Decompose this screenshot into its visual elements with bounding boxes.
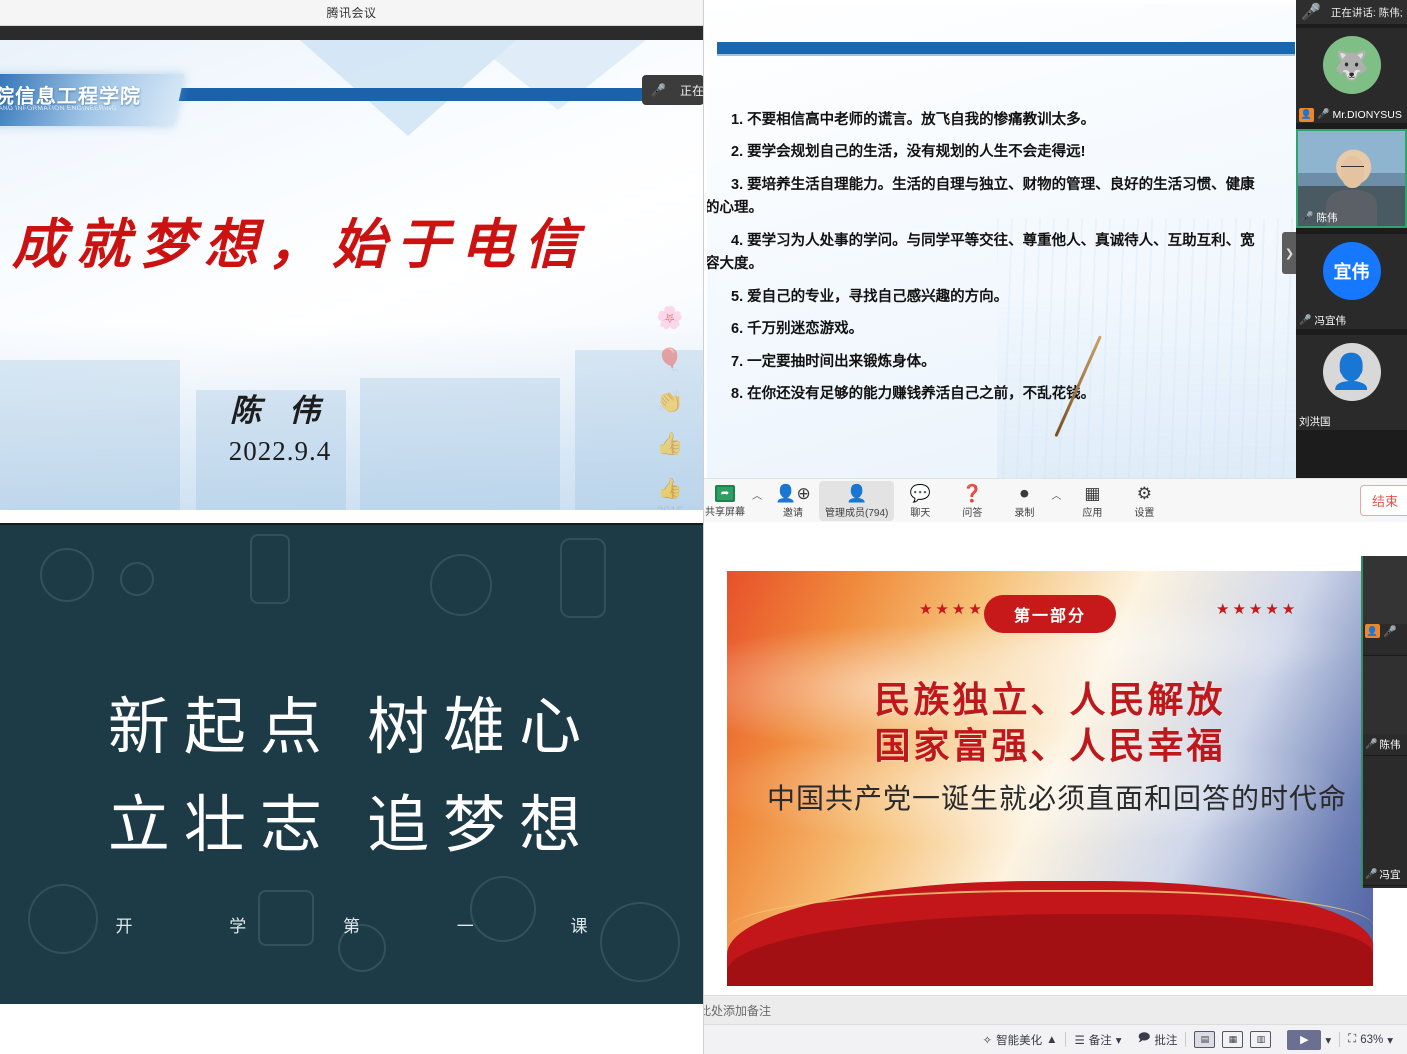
quadrant-divider-horizontal [0,523,703,525]
tencent-meeting-window-bottom-left: 新起点 树雄心 立壮志 追梦想 开 学 第 一 课 ➦ 共享屏幕 ︿ 👤⊕ 邀请… [0,524,703,1054]
view-slide-sorter-icon[interactable]: ▦ [1222,1031,1243,1048]
campus-watermark-building [0,360,180,510]
chevron-down-icon[interactable]: ▾ [1116,1033,1122,1047]
record-label: 录制 [1014,504,1034,519]
record-button[interactable]: ⏺ 录制 [998,481,1050,521]
settings-button[interactable]: ⚙ 设置 [1118,481,1170,521]
shared-slide-title: 院信息工程学院 AL AND INFORMATION ENGINEERING 成… [0,40,703,510]
participant-tile-active-speaker[interactable]: 🎤 陈伟 [1296,129,1407,228]
pip-participant-name: 陈伟 [1379,737,1400,752]
invite-button[interactable]: 👤⊕ 邀请 [767,481,819,521]
quadrant-divider-vertical [703,0,704,1054]
slide-canvas: ★★★★★ 第一部分 ★★★★★ 民族独立、人民解放 国家富强、人民幸福 中国共… [703,533,1407,995]
apps-button[interactable]: ▦ 应用 [1066,481,1118,521]
doodle [120,562,154,596]
presentation-editor-window: ★★★★★ 第一部分 ★★★★★ 民族独立、人民解放 国家富强、人民幸福 中国共… [703,533,1407,1054]
fit-to-window-icon[interactable]: ⛶ [1348,1033,1356,1046]
share-screen-button[interactable]: ➦ 共享屏幕 [703,482,751,520]
notes-button[interactable]: ☰ 备注 ▾ [1066,1032,1129,1048]
video-glasses [1341,166,1365,172]
slide-date: 2022.9.4 [0,436,560,467]
doodle [560,538,606,618]
doodle [250,534,290,604]
end-meeting-button[interactable]: 结束 [1360,485,1407,516]
editor-status-bar: ✧ 智能美化 ▲ ☰ 备注 ▾ 🗩 批注 ▤ ▦ ▥ ▶ ▾ [703,1024,1407,1054]
mic-icon: 🎤 [651,83,666,97]
zoom-group: ⛶ 63% ▾ [1340,1033,1401,1047]
mic-status-label: 正在 [680,82,703,99]
qa-button[interactable]: ❓ 问答 [946,481,998,521]
participant-namebar: 刘洪国 [1296,413,1334,430]
notes-placeholder: 此处添加备注 [703,1002,771,1019]
share-screen-label: 共享屏幕 [705,503,745,518]
school-logo-english: AL AND INFORMATION ENGINEERING [0,105,189,112]
avatar: 👤 [1323,343,1381,401]
shared-slide-chalkboard: 新起点 树雄心 立壮志 追梦想 开 学 第 一 课 [0,524,703,1004]
pip-participant-name-row: 🎤 冯宜 [1365,867,1400,882]
view-normal-icon[interactable]: ▤ [1194,1031,1215,1048]
chevron-down-icon[interactable]: ▾ [1325,1033,1331,1047]
avatar: 宜伟 [1323,242,1381,300]
slide-top-blue-bar [717,42,1295,54]
speaking-label: 正在讲话: 陈伟; [1331,5,1403,20]
pip-video-area [1363,656,1407,734]
list-item: 1. 不要相信高中老师的谎言。放飞自我的惨痛教训太多。 [707,109,1265,132]
participant-namebar: 👤 🎤 Mr.DIONYSUS [1296,106,1405,123]
manage-members-icon: 👤 [846,484,867,503]
participant-name: Mr.DIONYSUS [1332,109,1401,121]
slide-red-section[interactable]: ★★★★★ 第一部分 ★★★★★ 民族独立、人民解放 国家富强、人民幸福 中国共… [727,571,1373,986]
list-item: 6. 千万别迷恋游戏。 [707,318,1265,341]
speaking-indicator: 🎤 正在讲话: 陈伟; [1296,0,1407,24]
participant-namebar: 🎤 冯宜伟 [1296,312,1349,329]
comment-button[interactable]: 🗩 批注 [1130,1030,1186,1049]
share-screen-icon: ➦ [715,485,735,502]
mic-muted-icon: 🎤 [1317,109,1329,120]
list-item: 7. 一定要抽时间出来锻炼身体。 [707,351,1265,374]
mic-on-icon: 🎤 [1301,212,1313,223]
notes-icon: ☰ [1074,1033,1084,1047]
mic-icon: 🎤 [1383,625,1397,638]
tencent-meeting-window-top-left: 腾讯会议 院信息工程学院 AL AND INFORMATION ENGINEER… [0,0,703,524]
play-slideshow-group: ▶ ▾ [1279,1030,1339,1050]
list-item: 5. 爱自己的专业，寻找自己感兴趣的方向。 [707,286,1265,309]
floating-reactions: 🌸 🎈 👏 👍 👍 2015 [647,305,693,510]
clap-reaction-icon: 👏 [647,389,693,415]
pip-badges: 👤 🎤 [1365,624,1397,638]
chat-button[interactable]: 💬 聊天 [894,481,946,521]
beautify-button[interactable]: ✧ 智能美化 ▲ [974,1032,1065,1048]
list-item: 4. 要学习为人处事的学问。与同学平等交往、尊重他人、真诚待人、互助互利、宽容大… [707,230,1265,277]
play-icon[interactable]: ▶ [1287,1030,1321,1050]
notes-pane[interactable]: 此处添加备注 [703,995,1407,1025]
participant-tile[interactable]: 👤 刘洪国 [1296,335,1407,430]
gear-icon: ⚙ [1137,484,1152,503]
mic-muted-icon: 🎤 [1365,739,1377,750]
notes-label: 备注 [1089,1032,1112,1048]
balloon-reaction-icon: 🎈 [647,347,693,373]
doodle [430,554,492,616]
apps-label: 应用 [1082,504,1102,519]
slide-top-thin-bar [717,54,1295,56]
slide-main-title: 成就梦想，始于电信 [0,200,600,279]
like-count: 2015 [647,504,693,510]
thumbs-up-reaction-icon: 👍 [647,431,693,457]
slide-headline-line1: 新起点 树雄心 [0,676,703,766]
chevron-up-icon[interactable]: ▲ [1046,1034,1057,1046]
chevron-right-icon[interactable]: ❯ [1282,232,1297,274]
doodle [40,548,94,602]
meeting-toolbar-top: ➦ 共享屏幕 ︿ 👤⊕ 邀请 👤 管理成员(794) 💬 聊天 ❓ [703,478,1407,522]
magic-wand-icon: ✧ [982,1033,992,1047]
list-item: 8. 在你还没有足够的能力赚钱养活自己之前，不乱花钱。 [707,383,1265,406]
comment-label: 批注 [1154,1032,1177,1048]
mic-muted-icon: 🎤 [1299,315,1311,326]
comment-icon: 🗩 [1138,1030,1151,1049]
invite-label: 邀请 [783,504,803,519]
chat-label: 聊天 [910,504,930,519]
section-chip: 第一部分 [984,595,1116,633]
slide-headline-line1: 民族独立、人民解放 [727,671,1373,723]
chevron-down-icon[interactable]: ▾ [1387,1033,1393,1047]
banner-blue-bar [172,88,703,101]
qa-label: 问答 [962,504,982,519]
apps-grid-icon: ▦ [1084,484,1100,503]
participant-namebar: 🎤 陈伟 [1298,209,1340,226]
slide-author: 陈 伟 [0,385,560,430]
record-icon: ⏺ [1020,484,1029,503]
stars-right: ★★★★★ [1216,600,1298,618]
host-badge-icon: 👤 [1299,108,1314,122]
pip-video-area [1363,556,1407,624]
avatar: 🐺 [1323,36,1381,94]
zoom-level-label[interactable]: 63% [1360,1034,1383,1046]
pip-participant-tile[interactable]: 🎤 陈伟 [1363,656,1407,756]
slide-subtitle: 开 学 第 一 课 [0,912,703,937]
slide-body-text: 中国共产党一诞生就必须直面和回答的时代命 [767,777,1373,817]
video-head [1341,156,1365,188]
participant-name: 刘洪国 [1299,414,1331,429]
speaking-mic-icon: 🎤 [1301,2,1321,22]
slide-headline-line2: 立壮志 追梦想 [0,774,703,864]
beautify-label: 智能美化 [996,1032,1042,1048]
tencent-meeting-window-top-right: 1. 不要相信高中老师的谎言。放飞自我的惨痛教训太多。 2. 要学会规划自己的生… [703,0,1407,533]
flower-reaction-icon: 🌸 [647,305,693,331]
advice-list: 1. 不要相信高中老师的谎言。放飞自我的惨痛教训太多。 2. 要学会规划自己的生… [707,109,1265,416]
view-reading-icon[interactable]: ▥ [1250,1031,1271,1048]
chevron-up-icon[interactable]: ︿ [1051,487,1061,502]
pip-participant-name: 冯宜 [1379,867,1400,882]
thumbs-up-icon[interactable]: 👍 [653,473,687,503]
manage-members-label: 管理成员(794) [825,504,888,519]
pip-participant-tile[interactable]: 👤 🎤 [1363,556,1407,656]
manage-members-button[interactable]: 👤 管理成员(794) [819,481,894,521]
participant-name: 陈伟 [1316,210,1337,225]
participant-tile[interactable]: 🐺 👤 🎤 Mr.DIONYSUS [1296,28,1407,123]
host-badge-icon: 👤 [1365,624,1380,638]
slide-header-banner: 院信息工程学院 AL AND INFORMATION ENGINEERING [0,74,703,116]
window-title: 腾讯会议 [326,4,376,21]
window-black-strip [0,26,703,40]
chevron-up-icon[interactable]: ︿ [752,487,762,502]
participant-name: 冯宜伟 [1314,313,1346,328]
pip-participant-tile[interactable]: 宜 🎤 冯宜 [1363,756,1407,886]
participant-video-rail: 🎤 正在讲话: 陈伟; 🐺 👤 🎤 Mr.DIONYSUS [1296,0,1407,478]
qa-icon: ❓ [962,484,983,503]
settings-label: 设置 [1134,504,1154,519]
mic-status-pill[interactable]: 🎤 正在 [642,75,703,105]
list-item: 3. 要培养生活自理能力。生活的自理与独立、财物的管理、良好的生活习惯、健康的心… [707,174,1265,221]
chat-bubble-icon: 💬 [910,484,931,503]
invite-person-icon: 👤⊕ [775,484,810,503]
floating-video-strip[interactable]: 👤 🎤 🎤 陈伟 宜 🎤 冯宜 [1361,556,1407,888]
pip-participant-name-row: 🎤 陈伟 [1365,737,1400,752]
view-mode-group: ▤ ▦ ▥ [1186,1031,1279,1048]
list-item: 2. 要学会规划自己的生活，没有规划的人生不会走得远! [707,141,1265,164]
mic-muted-icon: 🎤 [1365,869,1377,880]
window-titlebar: 腾讯会议 [0,0,703,26]
screenshot-root: 腾讯会议 院信息工程学院 AL AND INFORMATION ENGINEER… [0,0,1407,1054]
shared-slide-advice: 1. 不要相信高中老师的谎言。放飞自我的惨痛教训太多。 2. 要学会规划自己的生… [707,4,1297,478]
participant-tile[interactable]: 宜伟 🎤 冯宜伟 [1296,234,1407,329]
slide-headline-line2: 国家富强、人民幸福 [727,717,1373,769]
